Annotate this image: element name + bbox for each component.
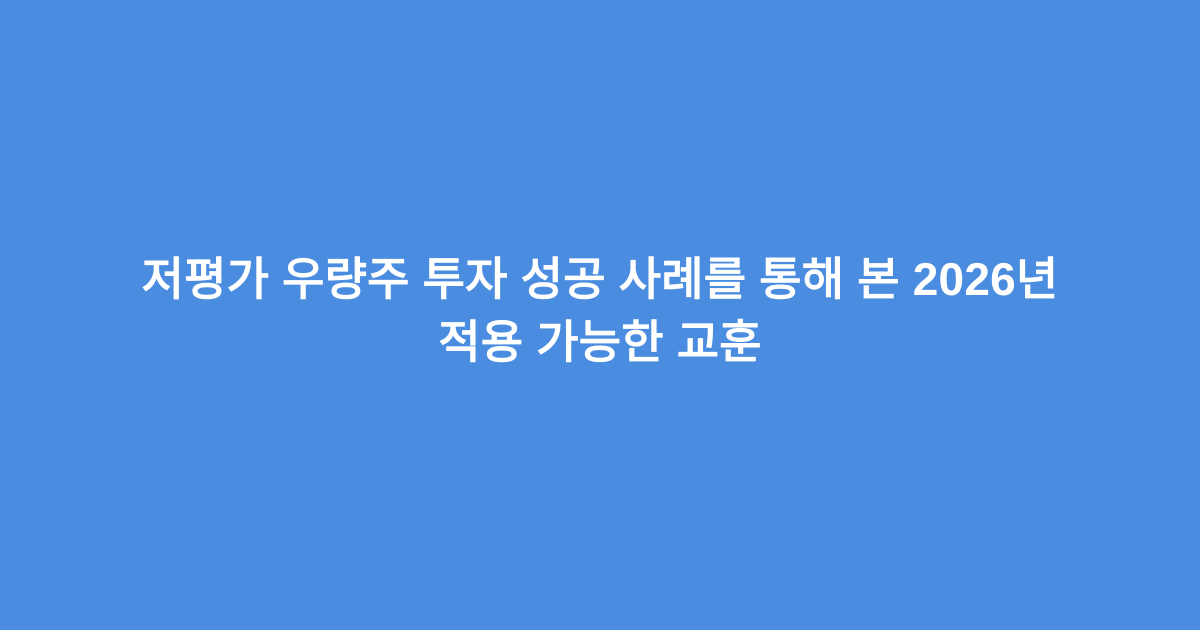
title-line-2: 적용 가능한 교훈 <box>90 311 1110 374</box>
title-card: 저평가 우량주 투자 성공 사례를 통해 본 2026년 적용 가능한 교훈 <box>0 0 1200 630</box>
title-line-1: 저평가 우량주 투자 성공 사례를 통해 본 2026년 <box>90 248 1110 311</box>
page-title: 저평가 우량주 투자 성공 사례를 통해 본 2026년 적용 가능한 교훈 <box>70 248 1130 374</box>
